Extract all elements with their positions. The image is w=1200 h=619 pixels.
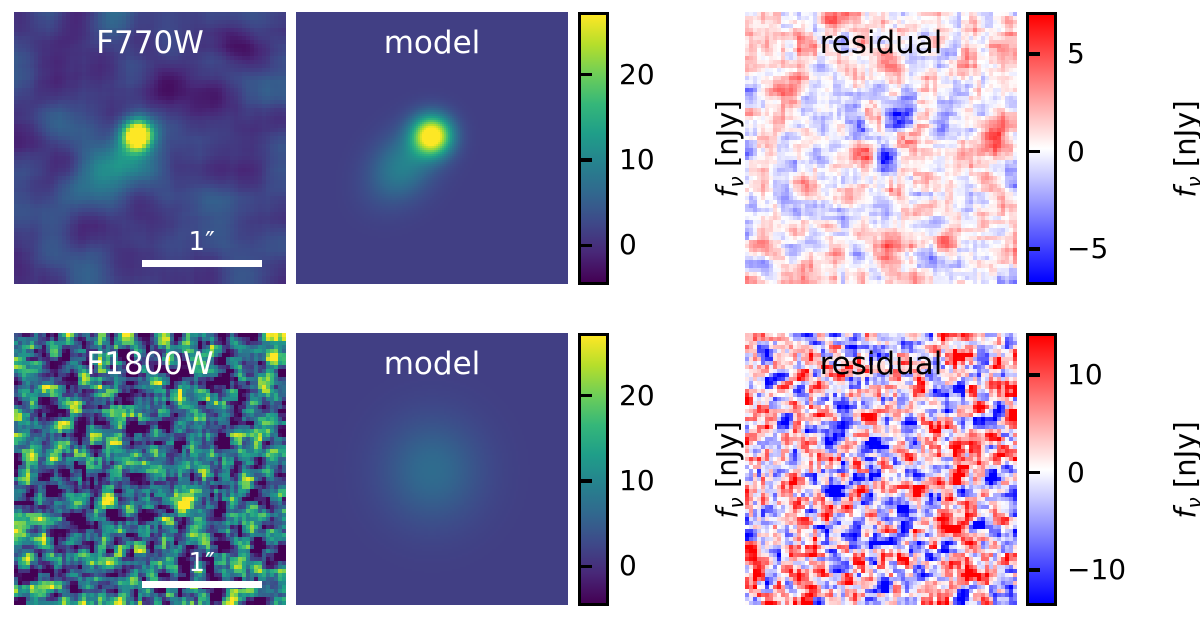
panel-f1800w-image: F1800W1″ xyxy=(14,333,286,605)
panel-f1800w-model-heatmap xyxy=(296,333,568,605)
panel-f1800w-residual-heatmap xyxy=(745,333,1017,605)
panel-f1800w-residual: residual xyxy=(745,333,1017,605)
cbar-f770w-flux-axis-label: fν [nJy] xyxy=(710,12,744,285)
cbar-f770w-flux: 01020 xyxy=(578,12,609,285)
panel-f770w-residual: residual xyxy=(745,12,1017,284)
cbar-f1800w-flux-tick xyxy=(581,394,592,398)
cbar-f1800w-flux-gradient xyxy=(581,336,606,603)
cbar-f1800w-residual-axis-label: fν [nJy] xyxy=(1168,333,1200,606)
cbar-f1800w-residual-tick-label: 10 xyxy=(1067,361,1103,389)
flux-units: [nJy] xyxy=(710,100,744,167)
cbar-f770w-residual-tick xyxy=(1029,150,1040,154)
flux-units: [nJy] xyxy=(710,421,744,488)
flux-symbol: f xyxy=(1168,187,1200,197)
cbar-f1800w-residual: −10010 xyxy=(1026,333,1057,606)
cbar-f770w-residual-tick xyxy=(1029,247,1040,251)
flux-subscript: ν xyxy=(1182,497,1200,508)
flux-units: [nJy] xyxy=(1168,421,1200,488)
panel-f770w-image: F770W1″ xyxy=(14,12,286,284)
panel-f770w-residual-heatmap xyxy=(745,12,1017,284)
cbar-f770w-flux-tick xyxy=(581,158,592,162)
flux-symbol: f xyxy=(710,187,744,197)
cbar-f1800w-flux-tick xyxy=(581,479,592,483)
flux-symbol: f xyxy=(1168,508,1200,518)
cbar-f770w-flux-tick xyxy=(581,244,592,248)
flux-subscript: ν xyxy=(724,497,748,508)
cbar-f1800w-flux-tick-label: 20 xyxy=(619,382,655,410)
cbar-f1800w-flux: 01020 xyxy=(578,333,609,606)
cbar-f770w-flux-tick-label: 0 xyxy=(619,231,637,259)
cbar-f1800w-flux-tick xyxy=(581,565,592,569)
cbar-f1800w-residual-tick xyxy=(1029,471,1040,475)
cbar-f1800w-flux-axis-label: fν [nJy] xyxy=(710,333,744,606)
cbar-f770w-residual-tick-label: 5 xyxy=(1067,40,1085,68)
cbar-f1800w-residual-tick-label: 0 xyxy=(1067,459,1085,487)
cbar-f1800w-residual-tick xyxy=(1029,568,1040,572)
panel-f1800w-image-heatmap xyxy=(14,333,286,605)
flux-subscript: ν xyxy=(1182,176,1200,187)
cbar-f770w-flux-tick xyxy=(581,73,592,77)
panel-f770w-model: model xyxy=(296,12,568,284)
cbar-f770w-residual-axis-label: fν [nJy] xyxy=(1168,12,1200,285)
flux-subscript: ν xyxy=(724,176,748,187)
flux-symbol: f xyxy=(710,508,744,518)
figure-canvas: F770W1″modelresidual01020fν [nJy]−505fν … xyxy=(0,0,1200,619)
cbar-f1800w-residual-tick-label: −10 xyxy=(1067,556,1126,584)
cbar-f770w-flux-tick-label: 10 xyxy=(619,146,655,174)
cbar-f770w-residual-tick-label: 0 xyxy=(1067,138,1085,166)
flux-units: [nJy] xyxy=(1168,100,1200,167)
panel-f770w-image-heatmap xyxy=(14,12,286,284)
cbar-f1800w-flux-tick-label: 10 xyxy=(619,467,655,495)
panel-f770w-model-heatmap xyxy=(296,12,568,284)
cbar-f770w-flux-gradient xyxy=(581,15,606,282)
cbar-f1800w-flux-tick-label: 0 xyxy=(619,552,637,580)
cbar-f770w-flux-tick-label: 20 xyxy=(619,61,655,89)
panel-f1800w-model: model xyxy=(296,333,568,605)
cbar-f1800w-residual-tick xyxy=(1029,373,1040,377)
cbar-f770w-residual-tick-label: −5 xyxy=(1067,235,1108,263)
cbar-f770w-residual-tick xyxy=(1029,52,1040,56)
cbar-f770w-residual: −505 xyxy=(1026,12,1057,285)
